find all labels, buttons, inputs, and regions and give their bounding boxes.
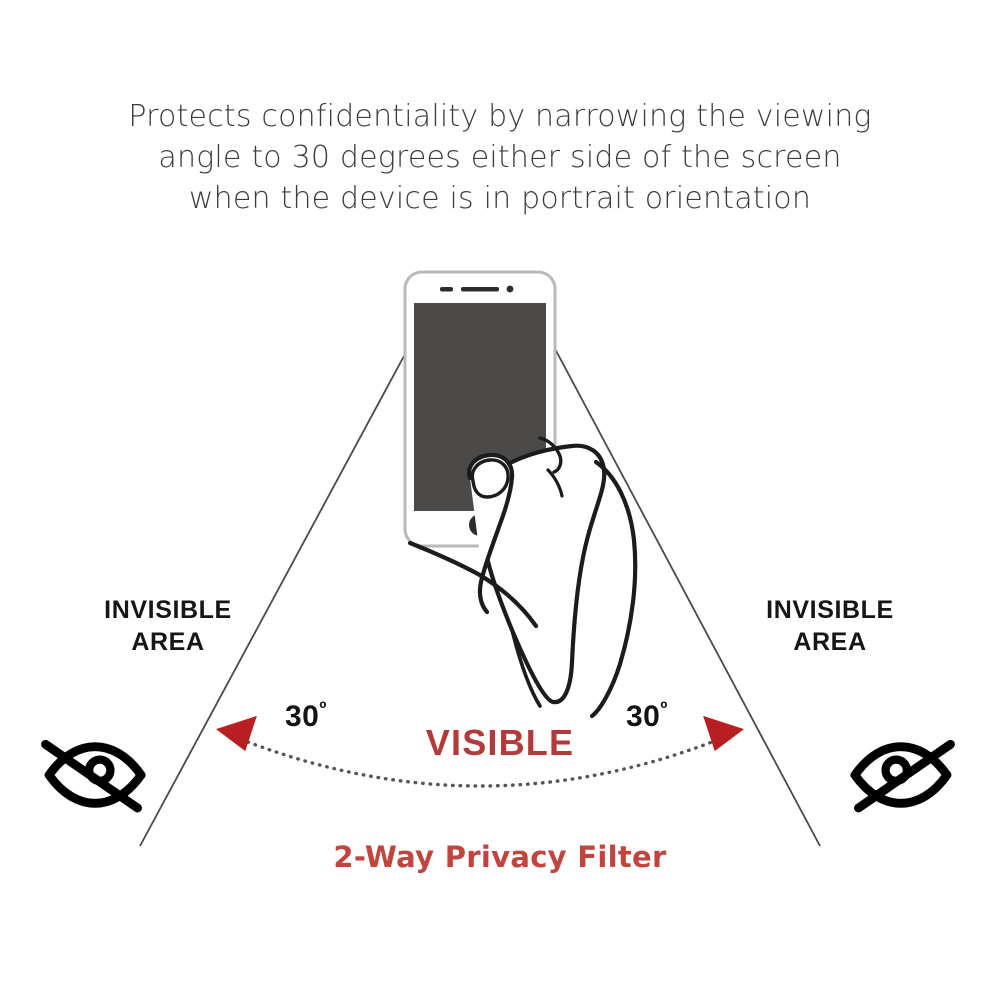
invisible-area-label-left: INVISIBLE AREA [58, 594, 278, 658]
phone-front-camera [507, 286, 514, 293]
phone-earpiece [461, 287, 499, 292]
visible-area-label: VISIBLE [0, 722, 1000, 764]
invisible-right-line-1: INVISIBLE [720, 594, 940, 626]
infographic-canvas: Protects confidentiality by narrowing th… [0, 0, 1000, 1000]
invisible-area-label-right: INVISIBLE AREA [720, 594, 940, 658]
phone-sensor [440, 287, 453, 292]
cone-line-left [140, 330, 418, 846]
invisible-left-line-2: AREA [58, 626, 278, 658]
invisible-left-line-1: INVISIBLE [58, 594, 278, 626]
product-caption: 2-Way Privacy Filter [0, 840, 1000, 874]
angle-left-degree-symbol: º [319, 699, 326, 720]
cone-line-right [545, 330, 820, 846]
angle-right-degree-symbol: º [660, 699, 667, 720]
invisible-right-line-2: AREA [720, 626, 940, 658]
